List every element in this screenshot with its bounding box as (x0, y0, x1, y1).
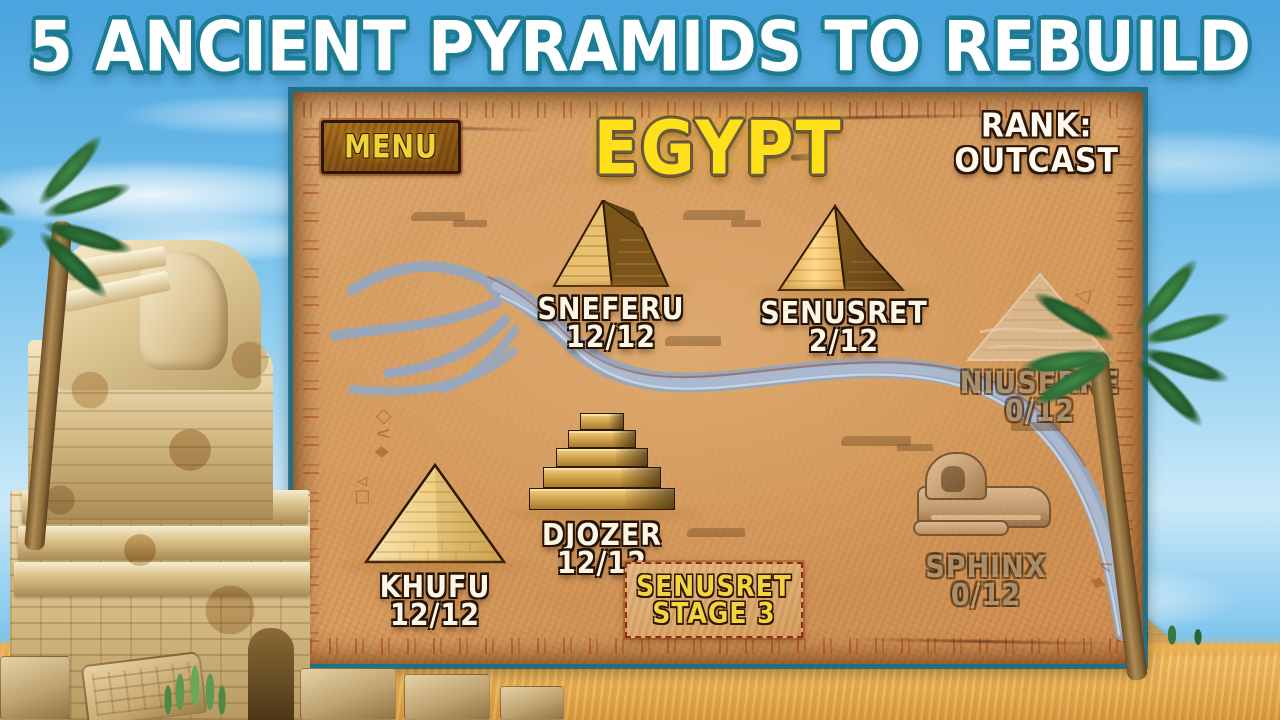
level-progress: 0/12 (935, 396, 1145, 427)
level-progress: 12/12 (511, 322, 711, 353)
level-progress: 12/12 (335, 600, 535, 631)
map-border-ticks-top (303, 102, 1133, 118)
foreground-rock (300, 668, 396, 720)
level-progress: 2/12 (739, 326, 949, 357)
sphinx-icon (906, 454, 1066, 550)
current-stage-number: STAGE 3 (652, 598, 775, 629)
game-screen: ♦∧◇ ◻▵ ✿△ ♦∧ MENU EGYPT RANK: OUTCAST (0, 0, 1280, 720)
ghost-pyramid-icon (960, 270, 1120, 366)
level-node-sphinx[interactable]: SPHINX 0/12 (881, 454, 1091, 610)
level-node-niuserre[interactable]: NIUSERRE 0/12 (935, 270, 1145, 426)
level-node-sneferu[interactable]: SNEFERU 12/12 (511, 200, 711, 352)
smooth-pyramid-icon (769, 204, 919, 296)
foreground-rock (0, 656, 70, 720)
level-node-khufu[interactable]: KHUFU 12/12 (335, 462, 535, 630)
step-pyramid-icon (522, 410, 682, 518)
map-border-ticks-bottom (303, 638, 1133, 654)
menu-button[interactable]: MENU (321, 120, 461, 174)
foreground-rock (500, 686, 564, 720)
map-border-ticks-left (303, 114, 319, 642)
bent-pyramid-icon (546, 200, 676, 292)
current-stage-button[interactable]: SENUSRET STAGE 3 (625, 562, 803, 638)
foreground-rock (404, 674, 490, 720)
egypt-map-panel: ♦∧◇ ◻▵ ✿△ ♦∧ MENU EGYPT RANK: OUTCAST (289, 88, 1147, 668)
great-pyramid-icon (360, 462, 510, 570)
level-node-senusret[interactable]: SENUSRET 2/12 (739, 204, 949, 356)
menu-button-label: MENU (344, 129, 438, 166)
level-progress: 0/12 (881, 580, 1091, 611)
